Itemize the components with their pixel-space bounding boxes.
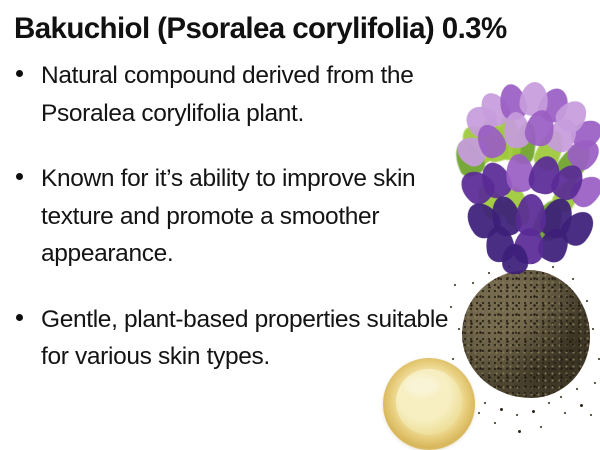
seed-speck <box>458 328 460 330</box>
bullet-text: Known for it’s ability to improve skin t… <box>41 160 455 273</box>
seed-speck <box>576 388 578 390</box>
seed-speck <box>594 382 596 384</box>
seed-speck <box>548 402 550 404</box>
seed-speck <box>586 300 588 302</box>
seed-speck <box>572 278 574 280</box>
bullet-dot-icon <box>16 314 23 321</box>
seed-speck <box>580 404 583 407</box>
purple-flower-cluster-image <box>452 78 600 263</box>
seed-speck <box>494 422 496 424</box>
seed-speck <box>500 408 503 411</box>
list-item: Natural compound derived from the Psoral… <box>10 57 455 132</box>
seed-mound <box>462 270 590 398</box>
page-title: Bakuchiol (Psoralea corylifolia) 0.3% <box>14 10 589 48</box>
seed-speck <box>518 430 521 433</box>
seed-speck <box>592 328 594 330</box>
seed-speck <box>590 414 592 416</box>
seed-speck <box>488 272 490 274</box>
seed-speck <box>450 306 452 308</box>
seed-speck <box>532 410 535 413</box>
bullet-list: Natural compound derived from the Psoral… <box>10 57 455 376</box>
seed-speck <box>540 426 542 428</box>
seed-speck <box>472 282 474 284</box>
seed-speck <box>454 284 456 286</box>
seed-speck <box>564 412 566 414</box>
seed-speck <box>478 412 480 414</box>
bowl-highlight <box>405 376 439 396</box>
slide-canvas: Bakuchiol (Psoralea corylifolia) 0.3% Na… <box>0 0 600 450</box>
seed-speck <box>552 266 554 268</box>
seed-speck <box>516 414 518 416</box>
seed-speck <box>560 396 562 398</box>
oil-bowl-image <box>383 358 475 450</box>
seed-speck <box>484 402 486 404</box>
bullet-text: Natural compound derived from the Psoral… <box>41 57 455 132</box>
bullet-dot-icon <box>16 173 23 180</box>
bullet-dot-icon <box>16 70 23 77</box>
list-item: Known for it’s ability to improve skin t… <box>10 160 455 273</box>
